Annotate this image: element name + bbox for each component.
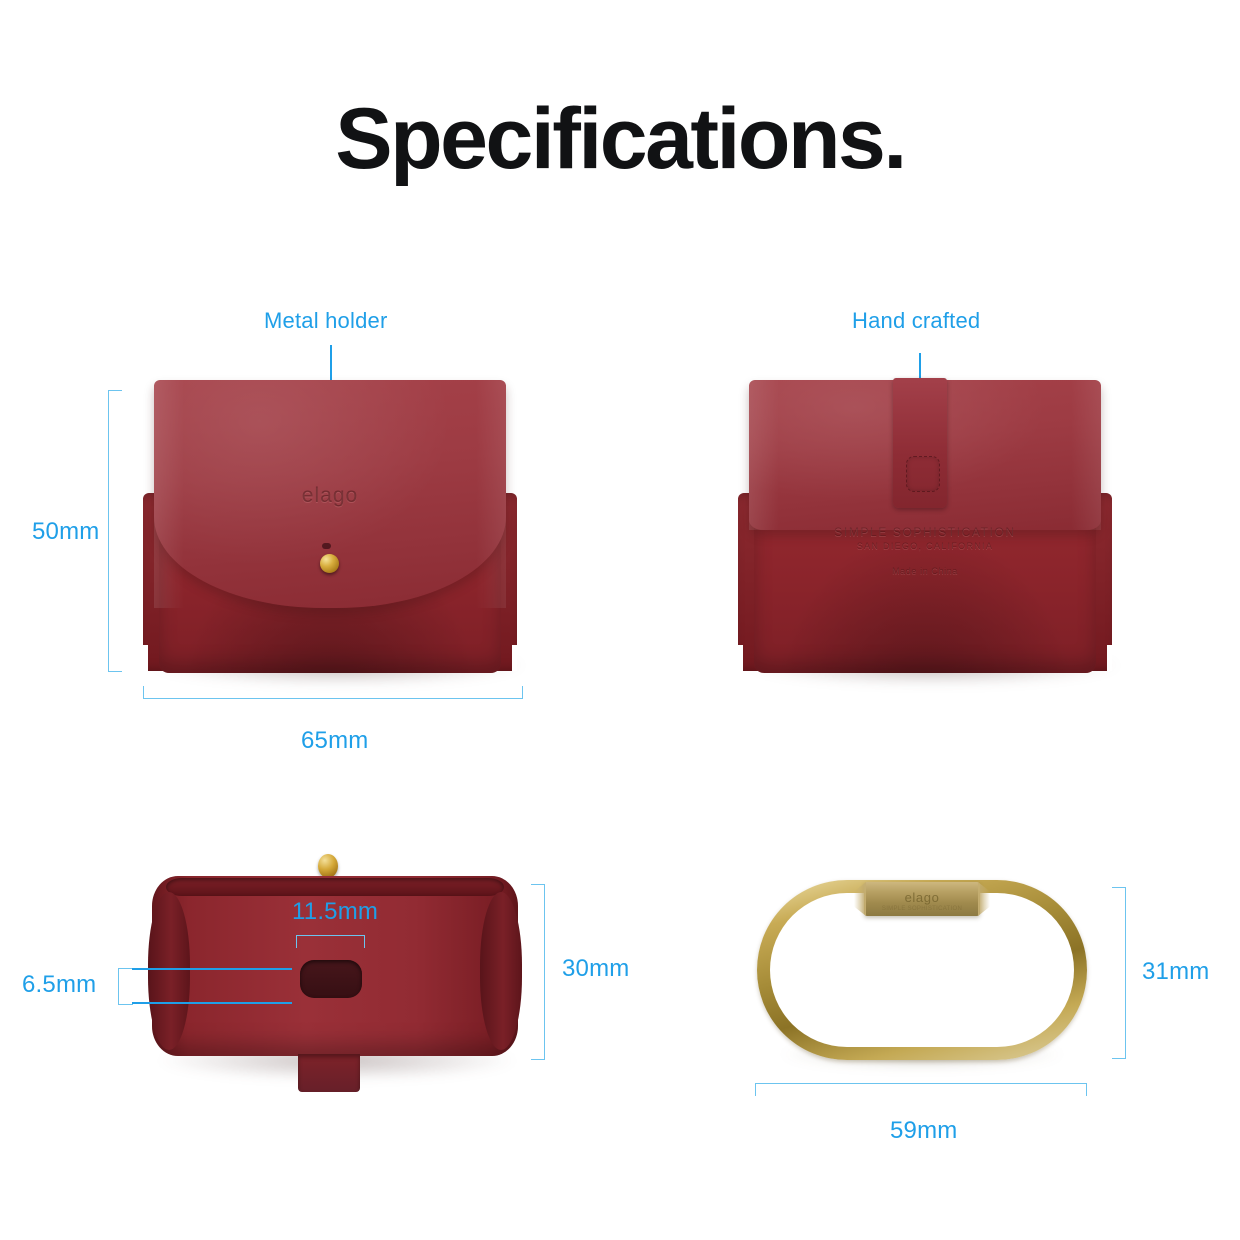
callout-label-metal-holder: Metal holder (264, 308, 387, 334)
dimension-bracket-keyring-width-59mm (755, 1083, 1087, 1096)
dimension-bracket-port-height-6-5mm (118, 968, 133, 1005)
wing-notch-right (512, 645, 517, 671)
flap-fold-left (749, 380, 779, 530)
page-title: Specifications. (0, 96, 1240, 182)
dimension-bracket-height-50mm (108, 390, 122, 672)
dimension-label-keyring-height-31mm: 31mm (1142, 958, 1209, 986)
back-emboss-line-1: SIMPLE SOPHISTICATION (730, 525, 1120, 539)
stitched-patch (906, 456, 940, 492)
keyring-brand-engrave: elago (864, 890, 980, 905)
back-emboss-line-2: SAN DIEGO, CALIFORNIA (730, 541, 1120, 551)
back-case-image: SIMPLE SOPHISTICATION SAN DIEGO, CALIFOR… (730, 378, 1120, 673)
dimension-bracket-depth-30mm (531, 884, 545, 1060)
wing-notch-left (143, 645, 148, 671)
strap-tab (298, 1054, 360, 1092)
dimension-label-port-width-11-5mm: 11.5mm (292, 898, 378, 926)
stud-hole (322, 543, 331, 549)
keyring-barrel: elago SIMPLE SOPHISTICATION (864, 882, 980, 916)
dimension-bracket-port-width-11-5mm (296, 935, 365, 948)
dimension-label-keyring-width-59mm: 59mm (890, 1117, 957, 1145)
back-emboss-line-3: Made in China (730, 566, 1120, 576)
dimension-label-width-65mm: 65mm (301, 727, 368, 755)
front-case-image: elago (135, 378, 525, 673)
metal-holder-stud (320, 554, 339, 573)
wing-notch-right (1107, 645, 1112, 671)
wing-notch-left (738, 645, 743, 671)
dimension-bracket-keyring-height-31mm (1112, 887, 1126, 1059)
metal-holder-ball (318, 854, 338, 878)
dimension-label-depth-30mm: 30mm (562, 955, 629, 983)
side-cap-left (148, 892, 190, 1050)
leader-line-port-top (132, 968, 292, 970)
keyring-sub-engrave: SIMPLE SOPHISTICATION (864, 906, 980, 912)
side-cap-right (480, 892, 522, 1050)
side-top-rim (166, 878, 504, 896)
specifications-page: Specifications. Metal holder elago 50mm (0, 0, 1240, 1240)
callout-label-hand-crafted: Hand crafted (852, 308, 980, 334)
charging-port-cutout (300, 960, 362, 998)
dimension-label-port-height-6-5mm: 6.5mm (22, 971, 96, 999)
leader-line-port-bottom (132, 1002, 292, 1004)
dimension-label-height-50mm: 50mm (32, 518, 99, 546)
dimension-bracket-width-65mm (143, 686, 523, 699)
brand-emboss-front: elago (154, 484, 506, 508)
flap-fold-right (1071, 380, 1101, 530)
keyring-image: elago SIMPLE SOPHISTICATION (757, 880, 1087, 1060)
